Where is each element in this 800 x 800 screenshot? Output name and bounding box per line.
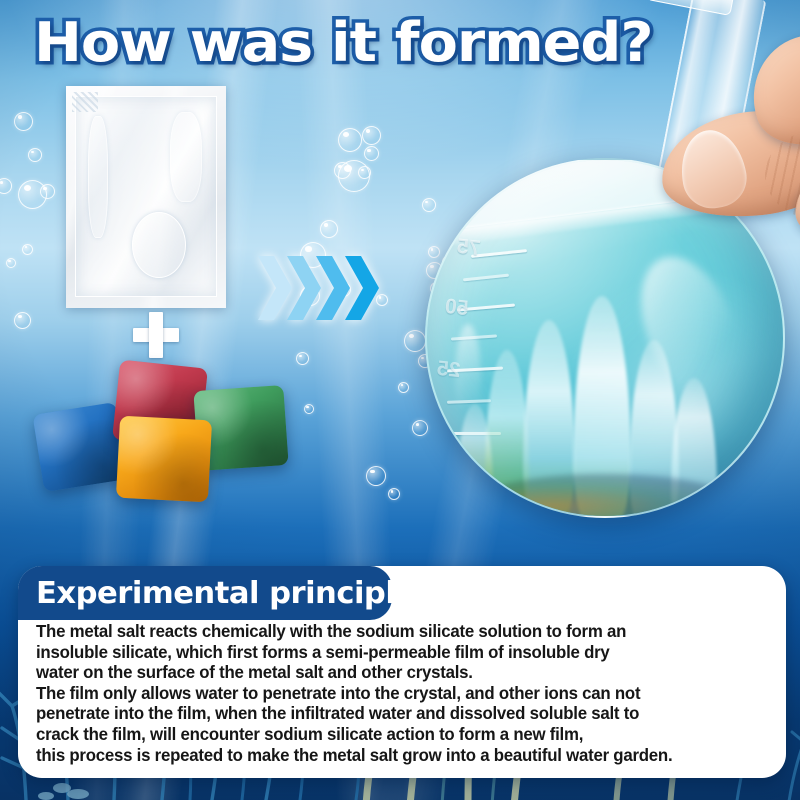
graduation-mark [463, 274, 509, 282]
principle-line: water on the surface of the metal salt a… [36, 663, 763, 684]
blue-crystal-cube [32, 402, 127, 492]
principle-body-text: The metal salt reacts chemically with th… [36, 622, 763, 766]
powder-sachet [66, 86, 226, 308]
principle-heading-tab: Experimental principle : [18, 566, 392, 620]
principle-line: insoluble silicate, which first forms a … [36, 643, 763, 664]
sachet-crease-right [170, 112, 202, 202]
infographic-canvas: How was it formed? [0, 0, 800, 800]
experimental-principle-panel: Experimental principle : The metal salt … [18, 566, 786, 778]
sachet-corner-notch [72, 92, 98, 112]
principle-line: The film only allows water to penetrate … [36, 684, 763, 705]
principle-line: crack the film, will encounter sodium si… [36, 725, 763, 746]
principle-line: penetrate into the film, when the infilt… [36, 704, 763, 725]
plus-symbol [133, 312, 179, 358]
principle-line: this process is repeated to make the met… [36, 746, 763, 767]
graduation-label-50: 50 [444, 295, 470, 321]
graduation-label-75: 75 [456, 235, 482, 261]
flask-assembly: 75 50 25 [395, 0, 800, 560]
sachet-crease-oval [132, 212, 186, 278]
hand-holding-flask [645, 0, 800, 230]
principle-line: The metal salt reacts chemically with th… [36, 622, 763, 643]
yellow-crystal-cube [116, 416, 212, 503]
principle-heading-label: Experimental principle : [36, 576, 437, 611]
chevron-arrow-4 [345, 256, 379, 320]
process-arrows [258, 256, 380, 320]
sachet-crease-vertical [88, 116, 108, 238]
